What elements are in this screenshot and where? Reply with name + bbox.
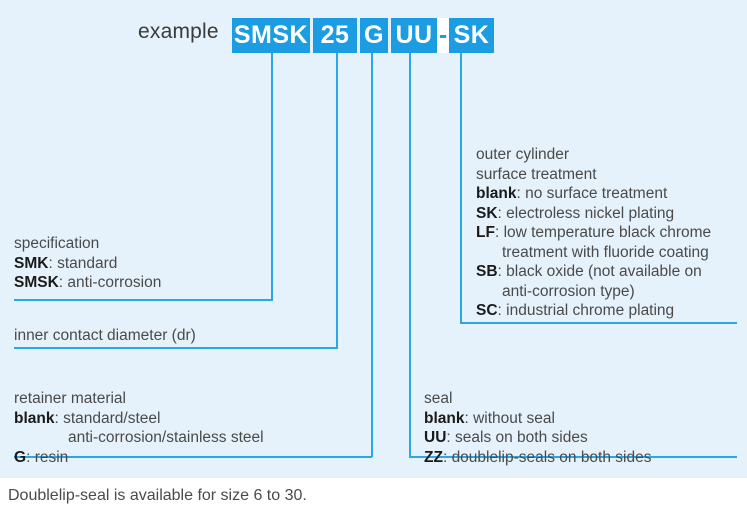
outer-cylinder-sep-sk: : [498,205,507,222]
specification-desc-smsk: anti-corrosion [67,274,161,291]
retainer-material-item-blank: blank: standard/steel [14,409,372,429]
seal-desc-uu: seals on both sides [455,429,588,446]
code-box-seal[interactable]: UU [391,18,437,53]
outer-cylinder-desc-sb: black oxide (not available on [506,263,702,280]
block-specification: specification SMK: standard SMSK: anti-c… [14,234,272,293]
outer-cylinder-sep-lf: : [495,224,504,241]
seal-item-uu: UU: seals on both sides [424,428,737,448]
outer-cylinder-code-blank: blank [476,185,516,202]
specification-code-smsk: SMSK [14,274,59,291]
retainer-material-desc-g: resin [35,449,69,466]
designation-diagram: example SMSK 25 G UU - SK specification … [0,0,747,516]
seal-desc-zz: doublelip-seals on both sides [452,449,652,466]
retainer-material-code-blank: blank [14,410,54,427]
outer-cylinder-item-sb-cont: anti-corrosion type) [476,282,737,302]
seal-code-uu: UU [424,429,446,446]
code-box-inner-diameter[interactable]: 25 [313,18,357,53]
seal-item-zz: ZZ: doublelip-seals on both sides [424,448,737,468]
specification-item-smk: SMK: standard [14,254,272,274]
code-separator-dash: - [437,18,449,53]
seal-code-zz: ZZ [424,449,443,466]
outer-cylinder-desc-blank: no surface treatment [525,185,667,202]
outer-cylinder-code-sb: SB [476,263,498,280]
outer-cylinder-item-sc: SC: industrial chrome plating [476,301,737,321]
outer-cylinder-item-lf-cont: treatment with fluoride coating [476,243,737,263]
inner-diameter-underline [14,347,337,349]
block-seal: seal blank: without seal UU: seals on bo… [424,389,737,467]
outer-cylinder-code-lf: LF [476,224,495,241]
specification-title: specification [14,234,272,254]
footnote: Doublelip-seal is available for size 6 t… [8,487,307,505]
seal-desc-blank: without seal [473,410,555,427]
outer-cylinder-item-blank: blank: no surface treatment [476,184,737,204]
specification-underline [14,299,272,301]
outer-cylinder-title-1: outer cylinder [476,145,737,165]
outer-cylinder-item-sk: SK: electroless nickel plating [476,204,737,224]
outer-cylinder-item-lf: LF: low temperature black chrome [476,223,737,243]
outer-cylinder-desc-sc: industrial chrome plating [506,302,674,319]
code-box-retainer-material[interactable]: G [360,18,388,53]
seal-item-blank: blank: without seal [424,409,737,429]
seal-sep-blank: : [464,410,473,427]
outer-cylinder-desc-lf: low temperature black chrome [504,224,712,241]
code-box-specification[interactable]: SMSK [232,18,310,53]
block-inner-contact-diameter: inner contact diameter (dr) [14,326,337,346]
outer-cylinder-code-sk: SK [476,205,498,222]
example-label: example [138,20,219,44]
retainer-material-item-blank-cont: anti-corrosion/stainless steel [14,428,372,448]
outer-cylinder-sep-sb: : [498,263,507,280]
leader-line-seal [409,53,411,457]
retainer-material-sep-blank: : [54,410,63,427]
specification-item-smsk: SMSK: anti-corrosion [14,273,272,293]
retainer-material-code-g: G [14,449,26,466]
specification-desc-smk: standard [57,255,117,272]
outer-cylinder-desc-sk: electroless nickel plating [506,205,674,222]
leader-line-surface-treatment [460,53,462,323]
specification-sep-smk: : [48,255,57,272]
block-outer-cylinder: outer cylinder surface treatment blank: … [476,145,737,321]
inner-diameter-title: inner contact diameter (dr) [14,326,337,346]
seal-sep-zz: : [443,449,452,466]
outer-cylinder-code-sc: SC [476,302,498,319]
outer-cylinder-sep-blank: : [516,185,525,202]
specification-code-smk: SMK [14,255,48,272]
seal-sep-uu: : [446,429,455,446]
leader-line-inner-diameter [336,53,338,349]
retainer-material-title: retainer material [14,389,372,409]
outer-cylinder-sep-sc: : [498,302,507,319]
code-box-surface-treatment[interactable]: SK [449,18,494,53]
seal-code-blank: blank [424,410,464,427]
seal-title: seal [424,389,737,409]
retainer-material-sep-g: : [26,449,35,466]
block-retainer-material: retainer material blank: standard/steel … [14,389,372,467]
outer-cylinder-item-sb: SB: black oxide (not available on [476,262,737,282]
retainer-material-item-g: G: resin [14,448,372,468]
retainer-material-desc-blank: standard/steel [63,410,160,427]
outer-cylinder-underline [460,322,737,324]
outer-cylinder-title-2: surface treatment [476,165,737,185]
